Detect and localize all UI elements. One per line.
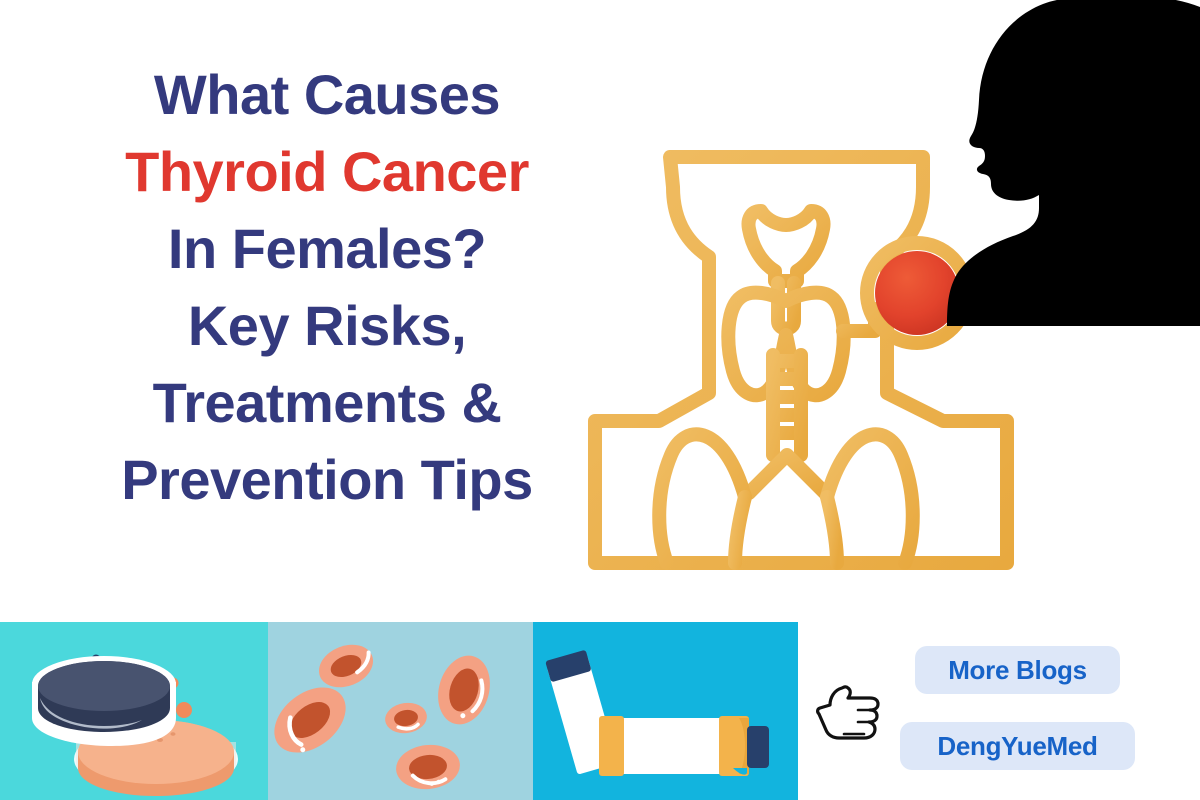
asthma-inhaler-icon (533, 622, 798, 800)
woman-head-profile-silhouette (935, 0, 1200, 326)
more-blogs-button[interactable]: More Blogs (915, 646, 1120, 694)
page-title: What Causes Thyroid Cancer In Females? K… (118, 56, 536, 518)
red-blood-cells-icon (268, 622, 533, 800)
title-segment-plain-2: In Females? Key Risks, Treatments & Prev… (121, 217, 533, 511)
brand-button[interactable]: DengYueMed (900, 722, 1135, 770)
title-segment-plain-1: What Causes (154, 63, 500, 126)
inhaler-panel (533, 622, 798, 800)
pointing-hand-right-icon (814, 682, 890, 744)
title-segment-accent: Thyroid Cancer (125, 140, 529, 203)
blood-cells-panel (268, 622, 533, 800)
poster-canvas: What Causes Thyroid Cancer In Females? K… (0, 0, 1200, 800)
petri-dish-panel (0, 622, 268, 800)
petri-dish-icon (0, 622, 268, 800)
image-strip (0, 622, 798, 800)
